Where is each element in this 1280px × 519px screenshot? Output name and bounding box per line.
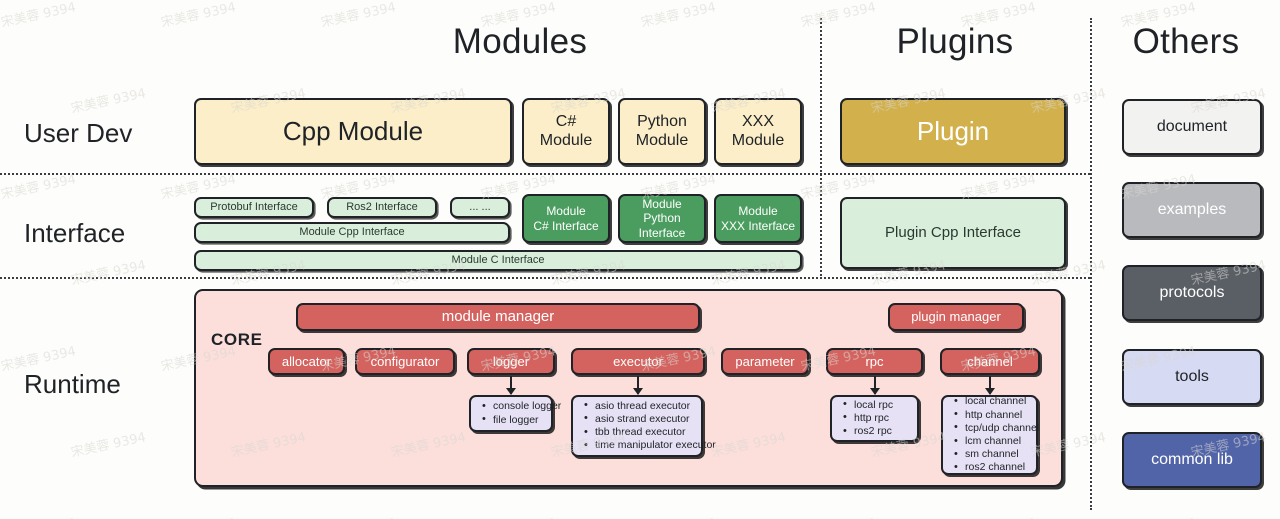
watermark-text: 宋美蓉 9394 — [0, 0, 77, 31]
module-python-interface-box[interactable]: Module Python Interface — [618, 194, 706, 243]
module-xxx-interface-line1: Module — [738, 204, 777, 218]
others-item-tools[interactable]: tools — [1122, 349, 1262, 405]
row-divider-userdev-interface — [0, 173, 1090, 175]
module-manager-label: module manager — [442, 308, 555, 326]
column-header-plugins: Plugins — [822, 22, 1088, 62]
watermark-text: 宋美蓉 9394 — [159, 512, 238, 519]
list-item: file logger — [493, 414, 561, 427]
list-item: asio strand executor — [595, 413, 716, 426]
watermark-text: 宋美蓉 9394 — [0, 512, 77, 519]
rpc-details-list: local rpchttp rpcros2 rpc — [840, 399, 893, 439]
watermark-text: 宋美蓉 9394 — [319, 512, 398, 519]
allocator-box[interactable]: allocator — [268, 348, 345, 375]
plugin-manager-box[interactable]: plugin manager — [888, 303, 1024, 331]
architecture-diagram: 宋美蓉 9394宋美蓉 9394宋美蓉 9394宋美蓉 9394宋美蓉 9394… — [0, 0, 1280, 519]
plugin-cpp-interface-label: Plugin Cpp Interface — [885, 224, 1021, 242]
executor-details-list: asio thread executorasio strand executor… — [581, 400, 716, 453]
module-manager-box[interactable]: module manager — [296, 303, 700, 331]
parameter-label: parameter — [735, 354, 794, 369]
cpp-module-label: Cpp Module — [283, 116, 423, 147]
python-module-box[interactable]: Python Module — [618, 98, 706, 165]
rpc-details-box: local rpchttp rpcros2 rpc — [830, 395, 919, 442]
watermark-text: 宋美蓉 9394 — [799, 512, 878, 519]
python-module-label-line2: Module — [636, 132, 688, 151]
list-item: local rpc — [854, 399, 893, 412]
xxx-module-label-line1: XXX — [742, 113, 774, 132]
rpc-box[interactable]: rpc — [826, 348, 923, 375]
list-item: ros2 channel — [965, 461, 1039, 474]
csharp-module-box[interactable]: C# Module — [522, 98, 610, 165]
module-xxx-interface-box[interactable]: Module XXX Interface — [714, 194, 802, 243]
configurator-label: configurator — [371, 354, 440, 369]
watermark-text: 宋美蓉 9394 — [959, 512, 1038, 519]
module-csharp-interface-line1: Module — [546, 204, 585, 218]
logger-details-list: console loggerfile logger — [479, 400, 561, 426]
row-label-runtime: Runtime — [24, 369, 121, 400]
python-module-label-line1: Python — [637, 113, 687, 132]
allocator-label: allocator — [282, 354, 331, 369]
list-item: local channel — [965, 395, 1039, 408]
list-item: asio thread executor — [595, 400, 716, 413]
executor-details-box: asio thread executorasio strand executor… — [571, 395, 703, 457]
channel-details-list: local channelhttp channeltcp/udp channel… — [951, 395, 1039, 474]
configurator-box[interactable]: configurator — [355, 348, 455, 375]
others-item-document[interactable]: document — [1122, 99, 1262, 155]
watermark-text: 宋美蓉 9394 — [69, 254, 148, 288]
others-item-common-lib[interactable]: common lib — [1122, 432, 1262, 488]
csharp-module-label-line2: Module — [540, 132, 592, 151]
watermark-text: 宋美蓉 9394 — [479, 512, 558, 519]
executor-label: executor — [613, 354, 663, 369]
others-examples-label: examples — [1158, 201, 1226, 220]
column-header-others: Others — [1092, 22, 1280, 62]
list-item: ros2 rpc — [854, 425, 893, 438]
executor-box[interactable]: executor — [571, 348, 705, 375]
list-item: sm channel — [965, 448, 1039, 461]
rpc-arrow — [865, 376, 885, 394]
list-item: http rpc — [854, 412, 893, 425]
channel-details-box: local channelhttp channeltcp/udp channel… — [941, 395, 1038, 475]
module-c-interface-label: Module C Interface — [452, 254, 545, 267]
more-interface-box[interactable]: ... ... — [450, 197, 510, 218]
module-cpp-interface-box[interactable]: Module Cpp Interface — [194, 222, 510, 243]
row-label-user-dev: User Dev — [24, 118, 132, 149]
module-c-interface-box[interactable]: Module C Interface — [194, 250, 802, 271]
channel-arrow — [980, 376, 1000, 394]
executor-arrow — [628, 376, 648, 394]
plugin-label: Plugin — [917, 116, 989, 147]
logger-details-box: console loggerfile logger — [469, 395, 553, 432]
plugin-box[interactable]: Plugin — [840, 98, 1066, 165]
protobuf-interface-label: Protobuf Interface — [210, 201, 297, 214]
channel-label: channel — [967, 354, 1013, 369]
channel-box[interactable]: channel — [940, 348, 1040, 375]
list-item: lcm channel — [965, 435, 1039, 448]
list-item: http channel — [965, 409, 1039, 422]
others-item-protocols[interactable]: protocols — [1122, 265, 1262, 321]
module-csharp-interface-line2: C# Interface — [533, 219, 598, 233]
others-document-label: document — [1157, 118, 1227, 137]
row-label-interface: Interface — [24, 218, 125, 249]
core-label: CORE — [211, 330, 263, 350]
watermark-text: 宋美蓉 9394 — [69, 82, 148, 116]
others-protocols-label: protocols — [1160, 284, 1225, 303]
logger-label: logger — [493, 354, 529, 369]
logger-box[interactable]: logger — [467, 348, 555, 375]
module-xxx-interface-line2: XXX Interface — [721, 219, 795, 233]
module-cpp-interface-label: Module Cpp Interface — [299, 226, 404, 239]
list-item: console logger — [493, 400, 561, 413]
column-header-modules: Modules — [220, 22, 820, 62]
ros2-interface-box[interactable]: Ros2 Interface — [327, 197, 437, 218]
rpc-label: rpc — [865, 354, 883, 369]
module-python-interface-line2: Python Interface — [620, 211, 704, 239]
xxx-module-label-line2: Module — [732, 132, 784, 151]
watermark-text: 宋美蓉 9394 — [69, 426, 148, 460]
more-interface-label: ... ... — [469, 201, 490, 214]
logger-arrow — [501, 376, 521, 394]
ros2-interface-label: Ros2 Interface — [346, 201, 418, 214]
xxx-module-box[interactable]: XXX Module — [714, 98, 802, 165]
plugin-cpp-interface-box[interactable]: Plugin Cpp Interface — [840, 197, 1066, 269]
list-item: time manipulator executor — [595, 439, 716, 452]
list-item: tbb thread executor — [595, 426, 716, 439]
row-divider-interface-runtime — [0, 277, 1090, 279]
others-common-lib-label: common lib — [1151, 451, 1233, 470]
column-divider-plugins-others — [1090, 18, 1092, 510]
csharp-module-label-line1: C# — [556, 113, 576, 132]
list-item: tcp/udp channel — [965, 422, 1039, 435]
plugin-manager-label: plugin manager — [911, 309, 1001, 324]
others-item-examples[interactable]: examples — [1122, 182, 1262, 238]
module-csharp-interface-box[interactable]: Module C# Interface — [522, 194, 610, 243]
module-python-interface-line1: Module — [642, 197, 681, 211]
others-tools-label: tools — [1175, 368, 1209, 387]
watermark-text: 宋美蓉 9394 — [1119, 512, 1198, 519]
cpp-module-box[interactable]: Cpp Module — [194, 98, 512, 165]
parameter-box[interactable]: parameter — [721, 348, 809, 375]
watermark-text: 宋美蓉 9394 — [639, 512, 718, 519]
protobuf-interface-box[interactable]: Protobuf Interface — [194, 197, 314, 218]
